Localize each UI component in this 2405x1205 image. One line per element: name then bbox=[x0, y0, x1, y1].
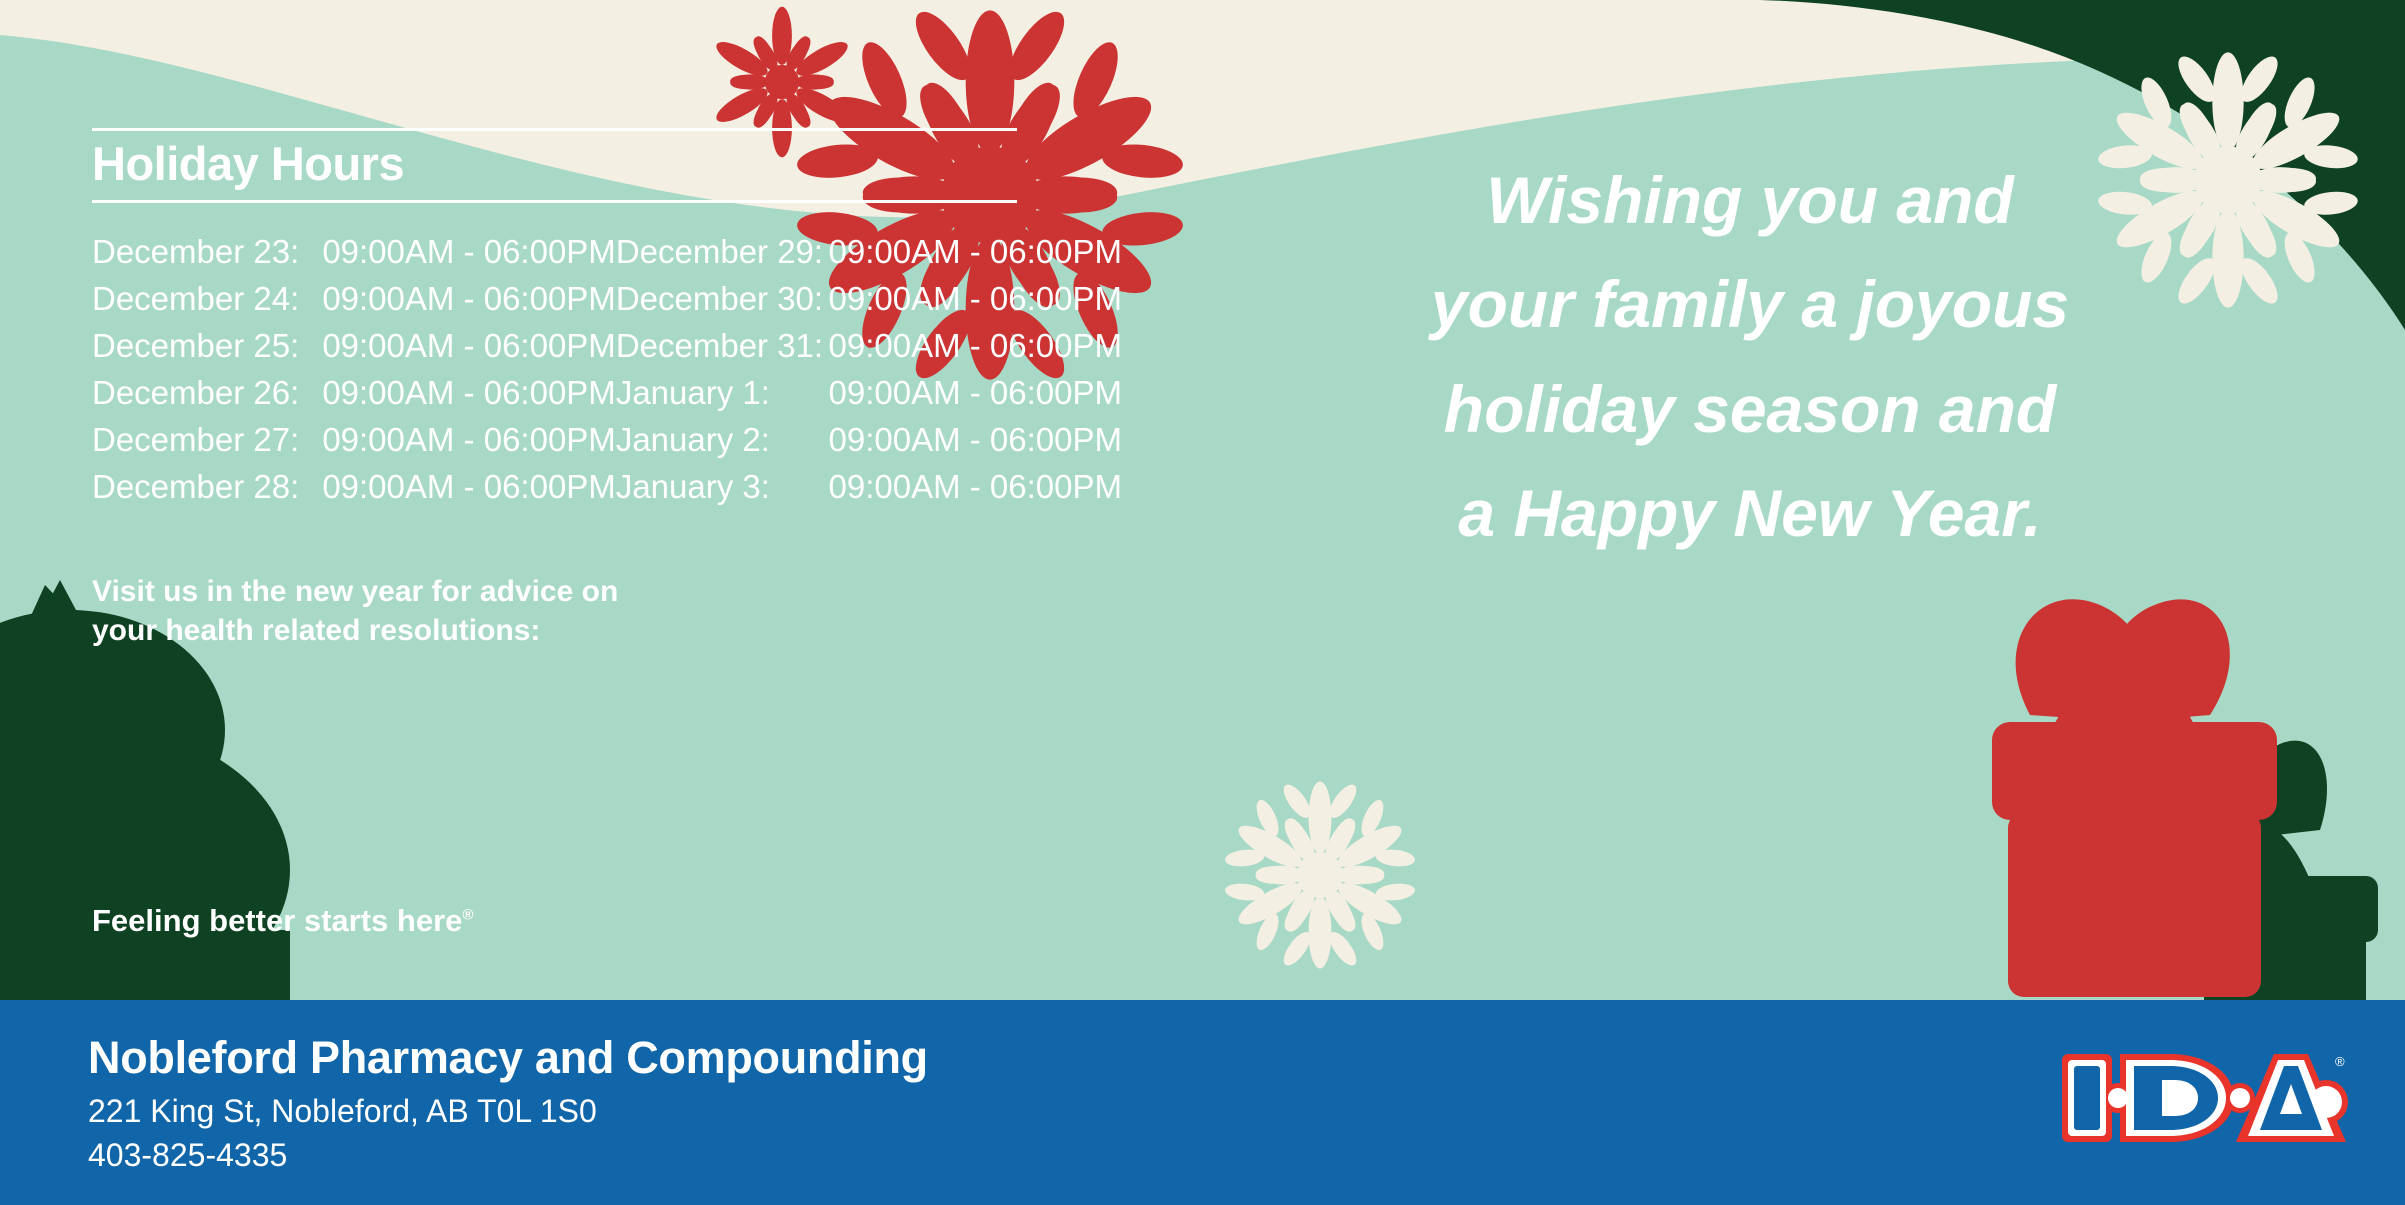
hours-time: 09:00AM - 06:00PM bbox=[322, 329, 616, 376]
hours-day-2: January 3: bbox=[616, 470, 829, 517]
table-row: December 27: 09:00AM - 06:00PM January 2… bbox=[92, 423, 1122, 470]
ida-registered-mark: ® bbox=[2335, 1054, 2345, 1069]
promo-message: Visit us in the new year for advice on y… bbox=[92, 572, 618, 650]
hours-day-2: January 2: bbox=[616, 423, 829, 470]
hours-day-2: January 1: bbox=[616, 376, 829, 423]
promo-line-2: your health related resolutions: bbox=[92, 611, 618, 650]
hours-time: 09:00AM - 06:00PM bbox=[322, 423, 616, 470]
hours-day-2: December 29: bbox=[616, 235, 829, 282]
hours-time: 09:00AM - 06:00PM bbox=[322, 235, 616, 282]
hours-time: 09:00AM - 06:00PM bbox=[322, 470, 616, 517]
hours-time-2: 09:00AM - 06:00PM bbox=[828, 329, 1122, 376]
brand-tagline: Feeling better starts here® bbox=[92, 903, 473, 939]
pharmacy-phone[interactable]: 403-825-4335 bbox=[88, 1137, 287, 1174]
hours-rule-bottom bbox=[92, 200, 1017, 203]
ida-logo: ® bbox=[2058, 1040, 2348, 1155]
pharmacy-address: 221 King St, Nobleford, AB T0L 1S0 bbox=[88, 1093, 597, 1130]
hours-day: December 23: bbox=[92, 235, 322, 282]
footer-bar: Nobleford Pharmacy and Compounding 221 K… bbox=[0, 1000, 2405, 1205]
hours-table-body: December 23: 09:00AM - 06:00PM December … bbox=[92, 235, 1122, 517]
hours-day: December 24: bbox=[92, 282, 322, 329]
holiday-hours-card: Holiday Hours December 23: 09:00AM - 06:… bbox=[0, 0, 2405, 1205]
pharmacy-name: Nobleford Pharmacy and Compounding bbox=[88, 1032, 928, 1084]
greeting-line-4: a Happy New Year. bbox=[1330, 461, 2170, 565]
holiday-hours-panel: Holiday Hours December 23: 09:00AM - 06:… bbox=[92, 128, 1122, 517]
hours-time-2: 09:00AM - 06:00PM bbox=[828, 282, 1122, 329]
table-row: December 26: 09:00AM - 06:00PM January 1… bbox=[92, 376, 1122, 423]
hours-day-2: December 31: bbox=[616, 329, 829, 376]
greeting-line-2: your family a joyous bbox=[1330, 252, 2170, 356]
table-row: December 28: 09:00AM - 06:00PM January 3… bbox=[92, 470, 1122, 517]
hours-time-2: 09:00AM - 06:00PM bbox=[828, 470, 1122, 517]
table-row: December 23: 09:00AM - 06:00PM December … bbox=[92, 235, 1122, 282]
table-row: December 25: 09:00AM - 06:00PM December … bbox=[92, 329, 1122, 376]
hours-day: December 27: bbox=[92, 423, 322, 470]
hours-time-2: 09:00AM - 06:00PM bbox=[828, 235, 1122, 282]
red-gift-box-icon bbox=[1992, 599, 2277, 997]
hours-time: 09:00AM - 06:00PM bbox=[322, 282, 616, 329]
greeting-line-3: holiday season and bbox=[1330, 357, 2170, 461]
hours-day: December 26: bbox=[92, 376, 322, 423]
hours-day: December 28: bbox=[92, 470, 322, 517]
hours-time: 09:00AM - 06:00PM bbox=[322, 376, 616, 423]
table-row: December 24: 09:00AM - 06:00PM December … bbox=[92, 282, 1122, 329]
registered-mark: ® bbox=[462, 907, 473, 924]
hours-time-2: 09:00AM - 06:00PM bbox=[828, 376, 1122, 423]
cream-snowflake-center-icon bbox=[1218, 780, 1423, 969]
hours-table: December 23: 09:00AM - 06:00PM December … bbox=[92, 235, 1122, 517]
greeting-line-1: Wishing you and bbox=[1330, 148, 2170, 252]
hours-time-2: 09:00AM - 06:00PM bbox=[828, 423, 1122, 470]
promo-line-1: Visit us in the new year for advice on bbox=[92, 572, 618, 611]
hours-title: Holiday Hours bbox=[92, 131, 1122, 200]
tagline-text: Feeling better starts here bbox=[92, 903, 462, 938]
hours-day: December 25: bbox=[92, 329, 322, 376]
hours-day-2: December 30: bbox=[616, 282, 829, 329]
greeting-message: Wishing you and your family a joyous hol… bbox=[1330, 148, 2170, 565]
